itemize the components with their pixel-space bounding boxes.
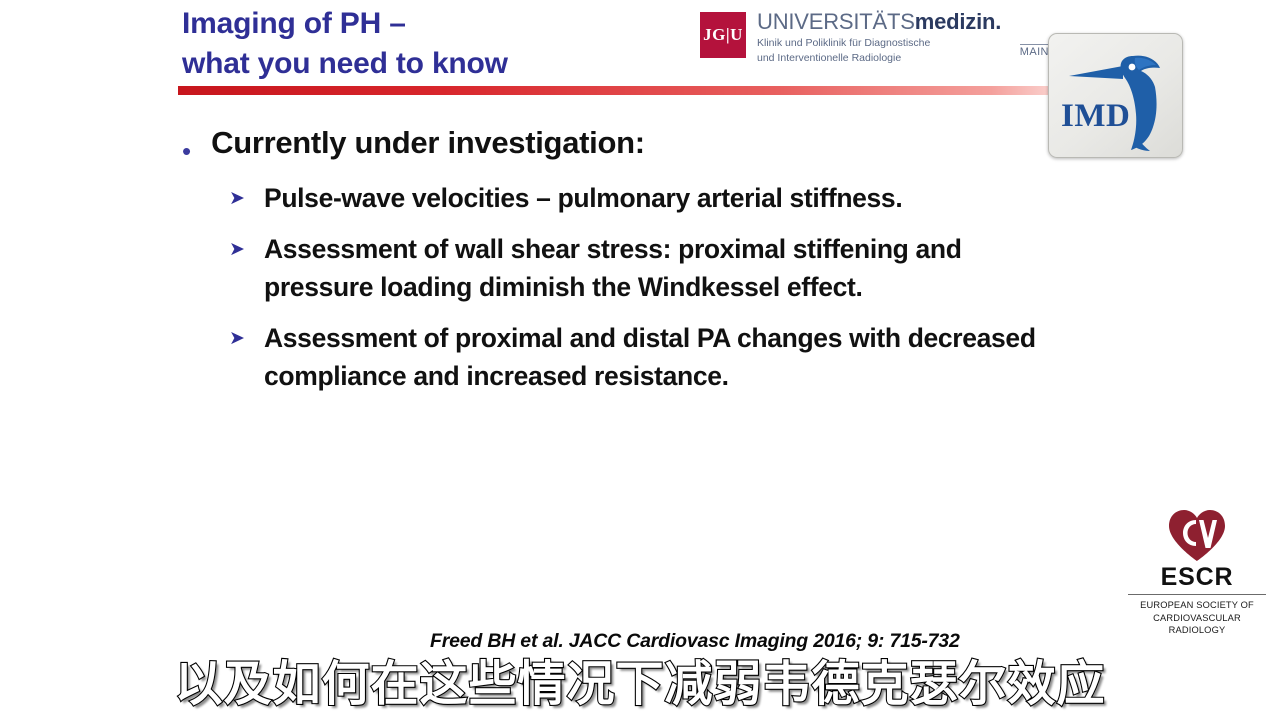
list-item: ➤ Assessment of wall shear stress: proxi…: [229, 231, 1092, 306]
page-title: Imaging of PH – what you need to know: [182, 4, 702, 84]
university-subline-row: Klinik und Poliklinik für Diagnostische …: [757, 36, 1060, 66]
title-block: Imaging of PH – what you need to know: [182, 4, 702, 84]
escr-logo: ESCR EUROPEAN SOCIETY OF CARDIOVASCULAR …: [1122, 508, 1272, 644]
university-logo: JG|U UNIVERSITÄTSmedizin. Klinik und Pol…: [700, 10, 1060, 86]
arrow-bullet-icon: ➤: [229, 240, 251, 259]
university-logo-text: UNIVERSITÄTSmedizin. Klinik und Poliklin…: [757, 10, 1060, 66]
university-department: Klinik und Poliklinik für Diagnostische …: [757, 36, 930, 66]
jgu-mark-icon: JG|U: [700, 12, 746, 58]
escr-heart-icon: [1122, 508, 1272, 562]
university-name-light: UNIVERSITÄTS: [757, 9, 915, 34]
arrow-bullet-icon: ➤: [229, 189, 251, 208]
university-name-bold: medizin.: [915, 9, 1001, 34]
arrow-bullet-icon: ➤: [229, 329, 251, 348]
list-item-text: Pulse-wave velocities – pulmonary arteri…: [264, 180, 902, 217]
slide-canvas: Imaging of PH – what you need to know JG…: [0, 0, 1280, 720]
lead-bullet-text: Currently under investigation:: [211, 124, 645, 161]
university-name: UNIVERSITÄTSmedizin.: [757, 10, 1060, 33]
escr-name: ESCR: [1122, 565, 1272, 590]
list-item: ➤ Assessment of proximal and distal PA c…: [229, 320, 1092, 395]
list-item-text: Assessment of wall shear stress: proxima…: [264, 231, 1074, 306]
sub-bullet-list: ➤ Pulse-wave velocities – pulmonary arte…: [182, 180, 1092, 395]
slide-body: • Currently under investigation: ➤ Pulse…: [182, 124, 1092, 409]
lead-bullet-row: • Currently under investigation:: [182, 124, 1092, 164]
list-item: ➤ Pulse-wave velocities – pulmonary arte…: [229, 180, 1092, 217]
round-bullet-icon: •: [182, 138, 191, 164]
list-item-text: Assessment of proximal and distal PA cha…: [264, 320, 1074, 395]
video-subtitle: 以及如何在这些情况下减弱韦德克瑟尔效应: [0, 644, 1280, 714]
title-divider-rule: [178, 86, 1062, 95]
escr-tagline: EUROPEAN SOCIETY OF CARDIOVASCULAR RADIO…: [1128, 594, 1266, 637]
